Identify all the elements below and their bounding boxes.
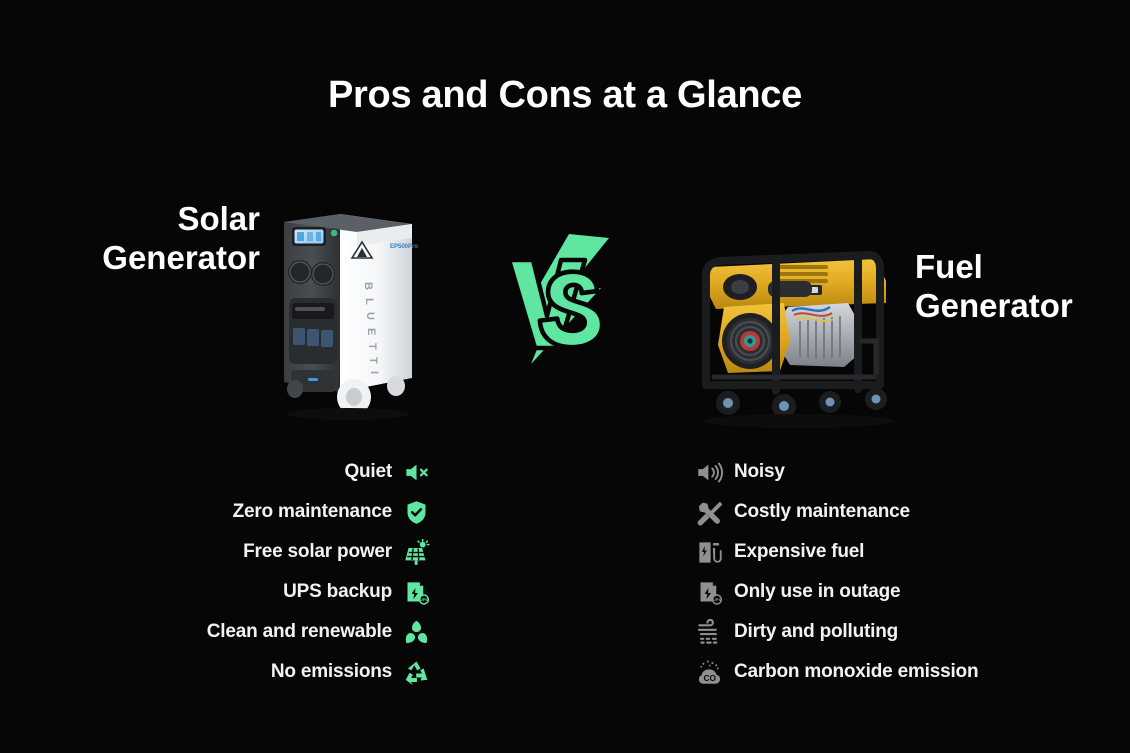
solar-generator-product-photo: EP500Pro B L U E T T I: [262, 186, 442, 421]
wrench-screwdriver-icon: [696, 499, 723, 526]
speaker-mute-icon: [403, 459, 430, 486]
solar-generator-feature-list: Quiet Zero maintenance Free solar power: [40, 452, 430, 692]
feature-label: Free solar power: [243, 541, 392, 563]
recycle-arrows-icon: [403, 659, 430, 686]
svg-text:I: I: [368, 371, 380, 374]
feature-label: UPS backup: [283, 581, 392, 603]
list-item: CO Carbon monoxide emission: [696, 652, 1116, 692]
feature-label: Costly maintenance: [734, 501, 910, 523]
list-item: UPS Only use in outage: [696, 572, 1116, 612]
ups-battery-icon: UPS: [696, 579, 723, 606]
fuel-generator-product-photo: [680, 245, 915, 430]
fuel-generator-heading: Fuel Generator: [915, 248, 1125, 326]
svg-text:CO: CO: [703, 672, 716, 682]
feature-label: Only use in outage: [734, 581, 900, 603]
list-item: Noisy: [696, 452, 1116, 492]
svg-text:T: T: [366, 343, 378, 350]
fuel-pump-icon: [696, 539, 723, 566]
solar-panel-sun-icon: [403, 539, 430, 566]
feature-label: Expensive fuel: [734, 541, 864, 563]
list-item: Dirty and polluting: [696, 612, 1116, 652]
versus-badge: VS: [497, 232, 627, 367]
feature-label: Zero maintenance: [233, 501, 392, 523]
feature-label: Clean and renewable: [207, 621, 392, 643]
feature-label: No emissions: [271, 661, 392, 683]
list-item: Costly maintenance: [696, 492, 1116, 532]
list-item: No emissions: [40, 652, 430, 692]
svg-text:U: U: [364, 312, 376, 320]
svg-text:UPS: UPS: [420, 598, 428, 602]
smog-lines-icon: [696, 619, 723, 646]
list-item: Zero maintenance: [40, 492, 430, 532]
solar-generator-heading: Solar Generator: [20, 200, 260, 278]
carbon-monoxide-cloud-icon: CO: [696, 659, 723, 686]
list-item: UPS backup UPS: [40, 572, 430, 612]
svg-text:E: E: [365, 328, 377, 335]
feature-label: Carbon monoxide emission: [734, 661, 978, 683]
svg-text:B: B: [362, 282, 374, 290]
ups-battery-icon: UPS: [403, 579, 430, 606]
svg-text:T: T: [367, 357, 379, 364]
list-item: Free solar power: [40, 532, 430, 572]
list-item: Expensive fuel: [696, 532, 1116, 572]
fuel-generator-feature-list: Noisy Costly maintenance Expensive fuel: [696, 452, 1116, 692]
infographic-canvas: Pros and Cons at a Glance Solar Generato…: [0, 0, 1130, 753]
feature-label: Quiet: [344, 461, 392, 483]
list-item: Quiet: [40, 452, 430, 492]
svg-text:EP500Pro: EP500Pro: [390, 244, 418, 250]
recycle-leaves-icon: [403, 619, 430, 646]
page-title: Pros and Cons at a Glance: [0, 74, 1130, 117]
svg-text:L: L: [363, 298, 375, 305]
shield-check-icon: [403, 499, 430, 526]
speaker-loud-icon: [696, 459, 723, 486]
list-item: Clean and renewable: [40, 612, 430, 652]
feature-label: Dirty and polluting: [734, 621, 898, 643]
svg-text:UPS: UPS: [713, 598, 721, 602]
feature-label: Noisy: [734, 461, 785, 483]
